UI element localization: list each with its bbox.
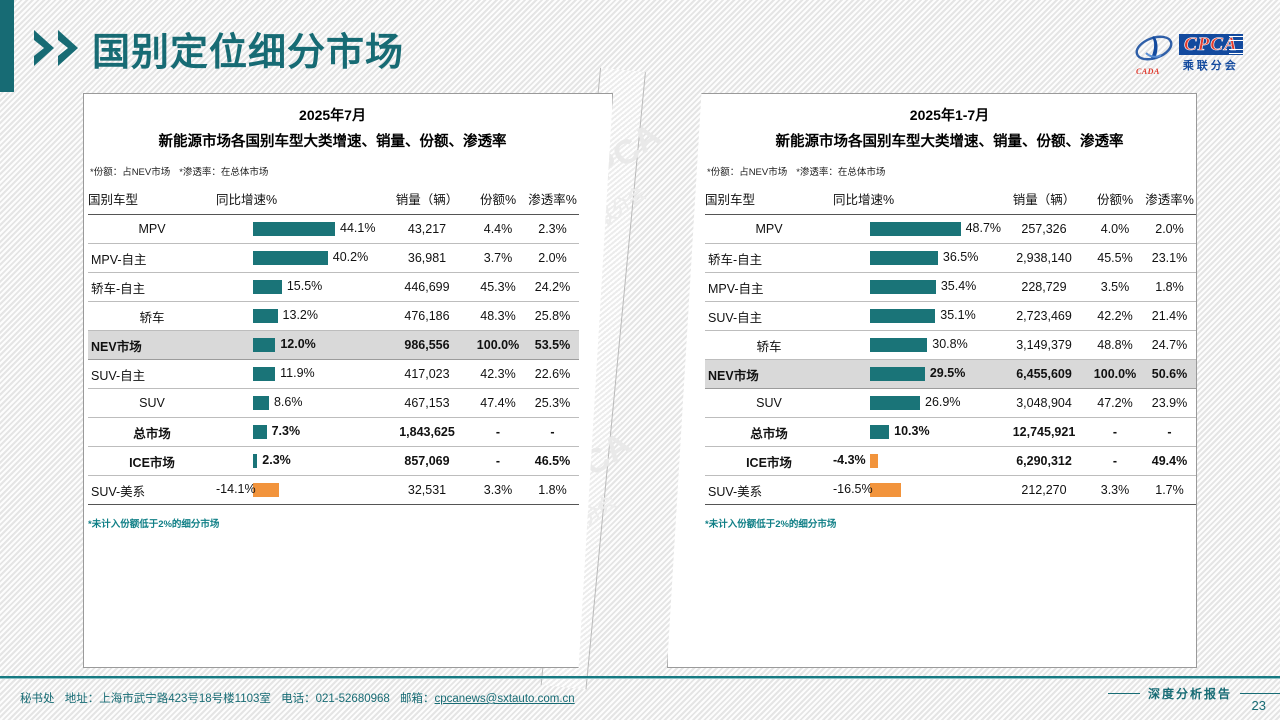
row-share: 4.4% xyxy=(470,215,526,244)
row-label: ICE市场 xyxy=(88,447,216,476)
cada-wordmark: CADA xyxy=(1136,67,1160,76)
row-share: 3.3% xyxy=(1087,476,1143,505)
growth-bar-negative xyxy=(253,483,279,497)
row-volume: 446,699 xyxy=(384,273,470,302)
growth-bar xyxy=(253,280,282,294)
row-label: SUV-美系 xyxy=(705,476,833,505)
col-header-penetration: 渗透率% xyxy=(526,184,579,215)
row-label: SUV-美系 xyxy=(88,476,216,505)
row-volume: 32,531 xyxy=(384,476,470,505)
growth-value: -14.1% xyxy=(216,482,248,496)
panel-notes: *份额：占NEV市场*渗透率：在总体市场 xyxy=(701,164,1198,178)
row-share: 45.3% xyxy=(470,273,526,302)
table-row: MPV-自主40.2%36,9813.7%2.0% xyxy=(88,244,579,273)
row-share: 47.4% xyxy=(470,389,526,418)
table-row: 总市场10.3%12,745,921-- xyxy=(705,418,1196,447)
row-growth-cell: 29.5% xyxy=(833,360,1001,389)
row-penetration: 23.1% xyxy=(1143,244,1196,273)
row-growth-cell: 35.4% xyxy=(833,273,1001,302)
row-share: 3.5% xyxy=(1087,273,1143,302)
panel-period: 2025年7月 xyxy=(84,105,581,125)
row-volume: 12,745,921 xyxy=(1001,418,1087,447)
row-label: SUV-自主 xyxy=(705,302,833,331)
growth-bar xyxy=(253,367,275,381)
row-label: MPV xyxy=(88,215,216,244)
col-header-name: 国别车型 xyxy=(705,184,833,215)
row-label: 轿车 xyxy=(705,331,833,360)
row-penetration: 2.3% xyxy=(526,215,579,244)
row-volume: 228,729 xyxy=(1001,273,1087,302)
growth-bar xyxy=(253,338,275,352)
footer-email-label: 邮箱： xyxy=(400,693,435,705)
row-share: - xyxy=(470,418,526,447)
panel-monthly: 2025年7月新能源市场各国别车型大类增速、销量、份额、渗透率*份额：占NEV市… xyxy=(83,93,613,668)
growth-value: 2.3% xyxy=(262,453,291,467)
page-title: 国别定位细分市场 xyxy=(92,21,404,76)
growth-bar xyxy=(870,338,927,352)
row-growth-cell: 48.7% xyxy=(833,215,1001,244)
footer-divider-2 xyxy=(0,678,1280,679)
segment-table: 国别车型同比增速%销量（辆）份额%渗透率%MPV48.7%257,3264.0%… xyxy=(705,184,1196,505)
row-growth-cell: 11.9% xyxy=(216,360,384,389)
row-penetration: 1.8% xyxy=(526,476,579,505)
table-row: 轿车13.2%476,18648.3%25.8% xyxy=(88,302,579,331)
table-header-row: 国别车型同比增速%销量（辆）份额%渗透率% xyxy=(705,184,1196,215)
row-share: 47.2% xyxy=(1087,389,1143,418)
col-header-share: 份额% xyxy=(470,184,526,215)
header-accent-bar xyxy=(0,0,14,92)
col-header-name: 国别车型 xyxy=(88,184,216,215)
row-growth-cell: 12.0% xyxy=(216,331,384,360)
row-label: SUV-自主 xyxy=(88,360,216,389)
slide-header: 国别定位细分市场 CADA CPCA 乘联分会 xyxy=(0,0,1280,92)
row-growth-cell: -14.1% xyxy=(216,476,384,505)
footer-phone: 021-52680968 xyxy=(316,693,390,705)
row-volume: 857,069 xyxy=(384,447,470,476)
table-row: NEV市场12.0%986,556100.0%53.5% xyxy=(88,331,579,360)
growth-bar xyxy=(253,222,335,236)
footer-brand: 深度分析报告 xyxy=(1148,685,1232,702)
row-penetration: 50.6% xyxy=(1143,360,1196,389)
row-share: 48.3% xyxy=(470,302,526,331)
growth-value: -16.5% xyxy=(833,482,865,496)
footer-org: 秘书处 xyxy=(20,693,55,705)
row-share: - xyxy=(470,447,526,476)
row-label: NEV市场 xyxy=(88,331,216,360)
cpca-wordmark: CPCA xyxy=(1184,35,1238,54)
growth-bar-negative xyxy=(870,483,901,497)
growth-bar-negative xyxy=(870,454,878,468)
growth-value: 35.4% xyxy=(941,279,976,293)
row-penetration: 53.5% xyxy=(526,331,579,360)
row-volume: 43,217 xyxy=(384,215,470,244)
growth-value: 30.8% xyxy=(932,337,967,351)
col-header-growth: 同比增速% xyxy=(833,184,1001,215)
col-header-volume: 销量（辆） xyxy=(384,184,470,215)
row-growth-cell: 13.2% xyxy=(216,302,384,331)
row-penetration: 2.0% xyxy=(1143,215,1196,244)
table-row: MPV48.7%257,3264.0%2.0% xyxy=(705,215,1196,244)
row-volume: 417,023 xyxy=(384,360,470,389)
growth-bar xyxy=(253,251,328,265)
table-header-row: 国别车型同比增速%销量（辆）份额%渗透率% xyxy=(88,184,579,215)
row-penetration: 25.8% xyxy=(526,302,579,331)
growth-bar xyxy=(870,367,925,381)
segment-table: 国别车型同比增速%销量（辆）份额%渗透率%MPV44.1%43,2174.4%2… xyxy=(88,184,579,505)
growth-value: 15.5% xyxy=(287,279,322,293)
panel-period: 2025年1-7月 xyxy=(701,105,1198,125)
row-growth-cell: 10.3% xyxy=(833,418,1001,447)
table-row: ICE市场-4.3%6,290,312-49.4% xyxy=(705,447,1196,476)
slide-footer: 秘书处 地址：上海市武宁路423号18号楼1103室 电话：021-526809… xyxy=(0,676,1280,720)
growth-value: 8.6% xyxy=(274,395,303,409)
panel-notes: *份额：占NEV市场*渗透率：在总体市场 xyxy=(84,164,581,178)
growth-value: 40.2% xyxy=(333,250,368,264)
panel-subtitle: 新能源市场各国别车型大类增速、销量、份额、渗透率 xyxy=(701,130,1198,151)
row-share: 48.8% xyxy=(1087,331,1143,360)
slide-canvas: CPCA 乘联分会 CPCA 乘联分会 国别定位细分市场 CADA xyxy=(0,0,1280,720)
row-label: MPV-自主 xyxy=(88,244,216,273)
growth-bar xyxy=(253,309,278,323)
table-row: ICE市场2.3%857,069-46.5% xyxy=(88,447,579,476)
row-volume: 476,186 xyxy=(384,302,470,331)
footer-email-link[interactable]: cpcanews@sxtauto.com.cn xyxy=(435,693,575,705)
row-label: ICE市场 xyxy=(705,447,833,476)
row-share: 4.0% xyxy=(1087,215,1143,244)
row-growth-cell: 15.5% xyxy=(216,273,384,302)
panel-footnote: *未计入份额低于2%的细分市场 xyxy=(84,516,581,530)
cpca-logo: CADA CPCA 乘联分会 xyxy=(1134,29,1246,77)
col-header-penetration: 渗透率% xyxy=(1143,184,1196,215)
row-growth-cell: 40.2% xyxy=(216,244,384,273)
row-growth-cell: 2.3% xyxy=(216,447,384,476)
growth-value: 36.5% xyxy=(943,250,978,264)
row-growth-cell: 30.8% xyxy=(833,331,1001,360)
note-penetration: *渗透率：在总体市场 xyxy=(179,167,268,178)
col-header-growth: 同比增速% xyxy=(216,184,384,215)
growth-value: -4.3% xyxy=(833,453,865,467)
row-growth-cell: 35.1% xyxy=(833,302,1001,331)
growth-bar xyxy=(253,396,269,410)
growth-value: 11.9% xyxy=(280,366,315,380)
row-penetration: 1.7% xyxy=(1143,476,1196,505)
growth-value: 44.1% xyxy=(340,221,375,235)
row-share: 100.0% xyxy=(470,331,526,360)
row-label: 总市场 xyxy=(88,418,216,447)
row-label: 轿车 xyxy=(88,302,216,331)
note-share: *份额：占NEV市场 xyxy=(707,167,787,178)
row-penetration: 25.3% xyxy=(526,389,579,418)
row-volume: 3,149,379 xyxy=(1001,331,1087,360)
growth-value: 7.3% xyxy=(272,424,301,438)
row-label: NEV市场 xyxy=(705,360,833,389)
col-header-share: 份额% xyxy=(1087,184,1143,215)
row-penetration: 24.2% xyxy=(526,273,579,302)
row-volume: 212,270 xyxy=(1001,476,1087,505)
note-penetration: *渗透率：在总体市场 xyxy=(796,167,885,178)
growth-bar xyxy=(253,425,267,439)
growth-value: 26.9% xyxy=(925,395,960,409)
footer-contact: 秘书处 地址：上海市武宁路423号18号楼1103室 电话：021-526809… xyxy=(20,690,575,706)
row-share: 3.3% xyxy=(470,476,526,505)
panel-cumulative: 2025年1-7月新能源市场各国别车型大类增速、销量、份额、渗透率*份额：占NE… xyxy=(667,93,1197,668)
cada-swoosh-icon: CADA xyxy=(1134,31,1174,75)
row-penetration: 1.8% xyxy=(1143,273,1196,302)
row-label: MPV xyxy=(705,215,833,244)
double-chevron-right-icon xyxy=(32,28,88,68)
row-share: 3.7% xyxy=(470,244,526,273)
table-row: 轿车30.8%3,149,37948.8%24.7% xyxy=(705,331,1196,360)
row-penetration: 46.5% xyxy=(526,447,579,476)
row-label: SUV xyxy=(88,389,216,418)
row-volume: 6,455,609 xyxy=(1001,360,1087,389)
row-label: 轿车-自主 xyxy=(88,273,216,302)
row-growth-cell: 7.3% xyxy=(216,418,384,447)
growth-bar xyxy=(870,251,938,265)
row-volume: 257,326 xyxy=(1001,215,1087,244)
table-row: NEV市场29.5%6,455,609100.0%50.6% xyxy=(705,360,1196,389)
row-penetration: 2.0% xyxy=(526,244,579,273)
growth-bar xyxy=(870,280,936,294)
row-share: - xyxy=(1087,447,1143,476)
cpca-wordmark-plate: CPCA xyxy=(1179,34,1243,55)
row-volume: 467,153 xyxy=(384,389,470,418)
row-share: 42.3% xyxy=(470,360,526,389)
footer-address: 上海市武宁路423号18号楼1103室 xyxy=(99,693,271,705)
row-share: 100.0% xyxy=(1087,360,1143,389)
row-penetration: 49.4% xyxy=(1143,447,1196,476)
table-row: SUV8.6%467,15347.4%25.3% xyxy=(88,389,579,418)
panel-subtitle: 新能源市场各国别车型大类增速、销量、份额、渗透率 xyxy=(84,130,581,151)
table-row: 轿车-自主15.5%446,69945.3%24.2% xyxy=(88,273,579,302)
row-volume: 3,048,904 xyxy=(1001,389,1087,418)
table-row: MPV-自主35.4%228,7293.5%1.8% xyxy=(705,273,1196,302)
growth-value: 35.1% xyxy=(940,308,975,322)
table-row: SUV26.9%3,048,90447.2%23.9% xyxy=(705,389,1196,418)
growth-bar xyxy=(870,309,935,323)
growth-bar xyxy=(870,222,961,236)
table-row: MPV44.1%43,2174.4%2.3% xyxy=(88,215,579,244)
growth-bar xyxy=(870,425,889,439)
row-penetration: - xyxy=(1143,418,1196,447)
growth-value: 29.5% xyxy=(930,366,965,380)
row-label: MPV-自主 xyxy=(705,273,833,302)
row-share: 45.5% xyxy=(1087,244,1143,273)
cpca-sub-wordmark: 乘联分会 xyxy=(1179,57,1243,73)
row-label: 总市场 xyxy=(705,418,833,447)
row-volume: 986,556 xyxy=(384,331,470,360)
note-share: *份额：占NEV市场 xyxy=(90,167,170,178)
growth-bar xyxy=(870,396,920,410)
row-growth-cell: -4.3% xyxy=(833,447,1001,476)
table-row: 轿车-自主36.5%2,938,14045.5%23.1% xyxy=(705,244,1196,273)
table-row: SUV-美系-14.1%32,5313.3%1.8% xyxy=(88,476,579,505)
row-growth-cell: -16.5% xyxy=(833,476,1001,505)
table-row: SUV-美系-16.5%212,2703.3%1.7% xyxy=(705,476,1196,505)
table-row: SUV-自主35.1%2,723,46942.2%21.4% xyxy=(705,302,1196,331)
row-volume: 6,290,312 xyxy=(1001,447,1087,476)
row-label: 轿车-自主 xyxy=(705,244,833,273)
row-label: SUV xyxy=(705,389,833,418)
growth-value: 48.7% xyxy=(966,221,1001,235)
row-volume: 2,938,140 xyxy=(1001,244,1087,273)
growth-value: 12.0% xyxy=(280,337,315,351)
table-row: SUV-自主11.9%417,02342.3%22.6% xyxy=(88,360,579,389)
growth-value: 10.3% xyxy=(894,424,929,438)
row-penetration: 22.6% xyxy=(526,360,579,389)
panel-footnote: *未计入份额低于2%的细分市场 xyxy=(701,516,1198,530)
page-number: 23 xyxy=(1252,698,1266,713)
row-volume: 2,723,469 xyxy=(1001,302,1087,331)
row-growth-cell: 8.6% xyxy=(216,389,384,418)
footer-address-label: 地址： xyxy=(65,693,100,705)
footer-phone-label: 电话： xyxy=(281,693,316,705)
row-volume: 36,981 xyxy=(384,244,470,273)
row-share: - xyxy=(1087,418,1143,447)
row-growth-cell: 26.9% xyxy=(833,389,1001,418)
row-growth-cell: 44.1% xyxy=(216,215,384,244)
row-growth-cell: 36.5% xyxy=(833,244,1001,273)
col-header-volume: 销量（辆） xyxy=(1001,184,1087,215)
row-penetration: - xyxy=(526,418,579,447)
growth-bar xyxy=(253,454,257,468)
row-volume: 1,843,625 xyxy=(384,418,470,447)
row-share: 42.2% xyxy=(1087,302,1143,331)
row-penetration: 23.9% xyxy=(1143,389,1196,418)
row-penetration: 24.7% xyxy=(1143,331,1196,360)
table-row: 总市场7.3%1,843,625-- xyxy=(88,418,579,447)
row-penetration: 21.4% xyxy=(1143,302,1196,331)
growth-value: 13.2% xyxy=(283,308,318,322)
